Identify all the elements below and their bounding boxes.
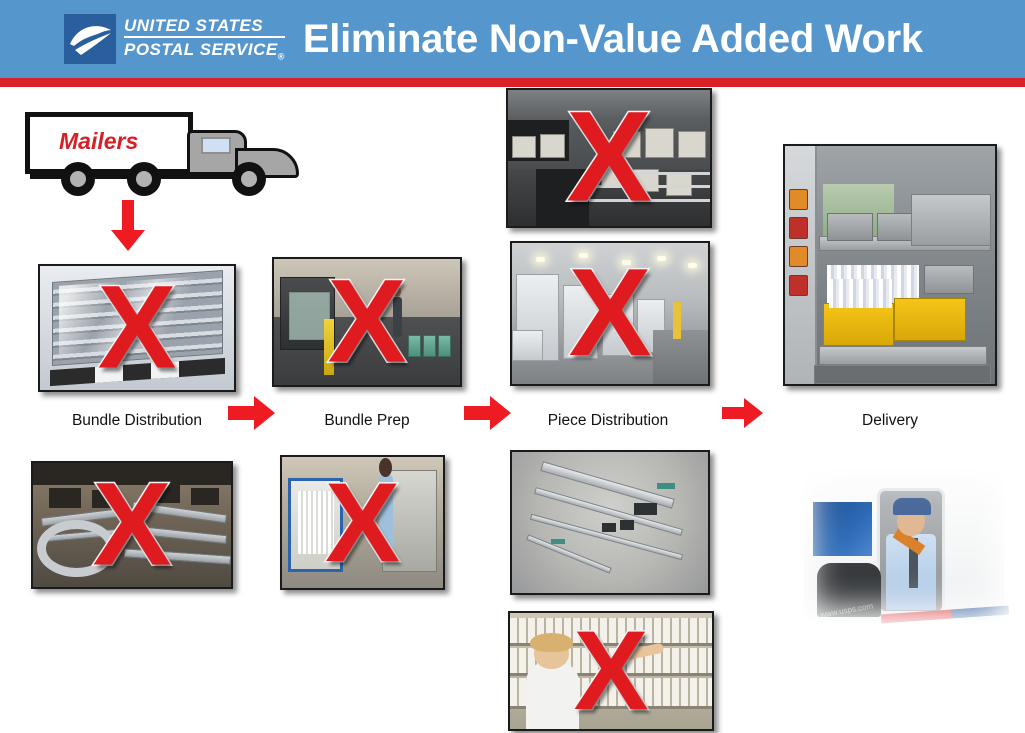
photo-delivery-vehicle-interior <box>783 144 997 386</box>
stage-label-bundle-distribution: Bundle Distribution <box>38 412 236 430</box>
photo-carrier-casing-mail: X <box>508 611 714 731</box>
truck-wheel <box>127 162 161 196</box>
photo-future-state-cad-render <box>510 450 710 595</box>
photo-piece-distribution-automation: X <box>510 241 710 386</box>
machine-operator-art <box>282 457 443 588</box>
automation-hall-art <box>512 243 708 384</box>
photo-aerial-sorting-plant: X <box>31 461 233 589</box>
van-interior-art <box>785 146 995 384</box>
aerial-plant-art <box>33 463 231 587</box>
bundle-prep-art <box>274 259 460 385</box>
photo-letter-carrier-at-vehicle: www.usps.com <box>790 448 1018 628</box>
truck-wheel <box>61 162 95 196</box>
arrow-down-icon <box>110 200 146 252</box>
truck-window <box>201 137 231 154</box>
usps-wordmark: UNITED STATES POSTAL SERVICE® <box>124 17 285 61</box>
eagle-head-icon <box>64 14 116 64</box>
cad-render-art <box>512 452 708 593</box>
header-divider <box>0 78 1025 87</box>
casing-mail-art <box>510 613 712 729</box>
arrow-right-icon <box>722 396 764 430</box>
logo-line-postal-service: POSTAL SERVICE® <box>124 36 285 61</box>
photo-bundle-distribution-pallet: X <box>38 264 236 392</box>
plant-dock-art <box>508 90 710 226</box>
pallet-of-trays-art <box>40 266 234 390</box>
photo-bundle-prep-line: X <box>272 257 462 387</box>
stage-label-delivery: Delivery <box>783 412 997 430</box>
arrow-right-icon <box>464 393 512 433</box>
photo-sorting-machine-operator: X <box>280 455 445 590</box>
page-title: Eliminate Non-Value Added Work <box>303 17 923 62</box>
stage-label-piece-distribution: Piece Distribution <box>508 412 708 430</box>
stage-label-bundle-prep: Bundle Prep <box>272 412 462 430</box>
usps-logo: UNITED STATES POSTAL SERVICE® <box>64 14 285 64</box>
truck-wheel <box>232 162 266 196</box>
registered-mark-icon: ® <box>278 51 285 61</box>
mailers-label: Mailers <box>59 128 138 155</box>
slide-canvas: UNITED STATES POSTAL SERVICE® Eliminate … <box>0 0 1025 733</box>
logo-line-united-states: UNITED STATES <box>124 17 285 36</box>
slide-header: UNITED STATES POSTAL SERVICE® Eliminate … <box>0 0 1025 78</box>
delivery-truck-icon: Mailers <box>25 112 280 197</box>
photo-plant-dock-containers: X <box>506 88 712 228</box>
